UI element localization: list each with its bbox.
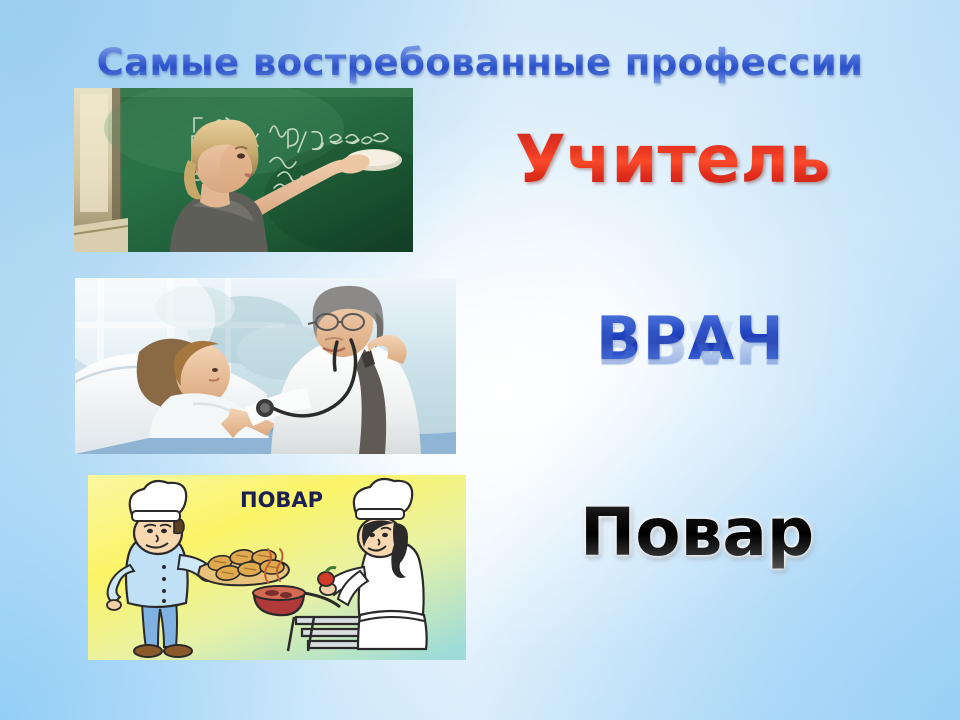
- slide-title: Самые востребованные профессии: [0, 41, 960, 84]
- profession-label-doctor-group: ВРАЧ ВРАЧ: [596, 304, 785, 434]
- doctor-examining-child-photo: [75, 278, 456, 454]
- cook-cartoon-illustration: ПОВАР: [88, 475, 466, 660]
- profession-label-cook: Повар: [580, 494, 814, 571]
- profession-label-teacher: Учитель: [515, 121, 831, 198]
- teacher-photo-artwork: [74, 88, 413, 252]
- cook-image-caption: ПОВАР: [240, 488, 323, 512]
- profession-label-doctor-reflection: ВРАЧ: [596, 306, 785, 376]
- presentation-slide: Самые востребованные профессии: [0, 0, 960, 720]
- teacher-at-blackboard-photo: [74, 88, 413, 252]
- doctor-photo-artwork: [75, 278, 456, 454]
- cook-cartoon-artwork: ПОВАР: [88, 475, 466, 660]
